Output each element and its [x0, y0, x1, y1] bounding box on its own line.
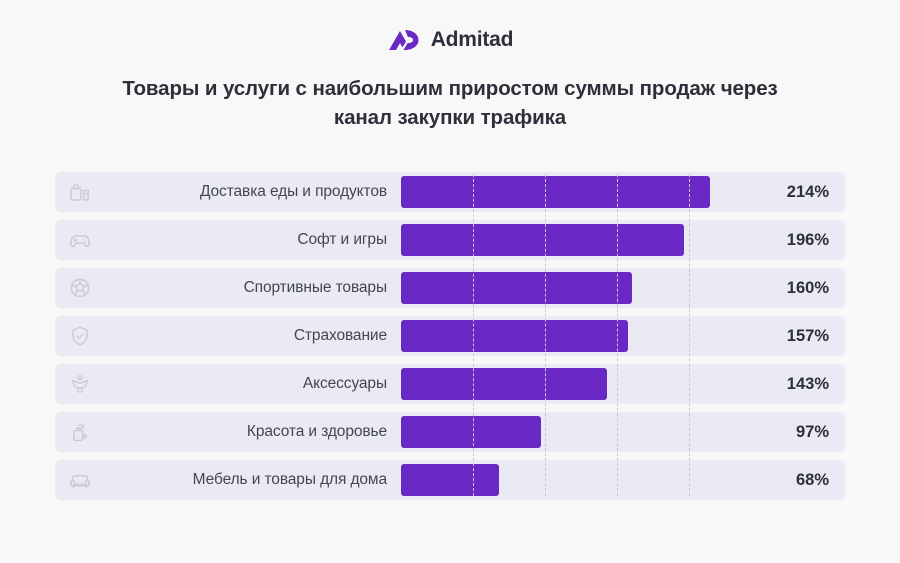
table-row: Мебель и товары для дома 68%: [55, 460, 845, 500]
row-value: 196%: [775, 220, 845, 260]
table-row: Софт и игры 196%: [55, 220, 845, 260]
row-track: [401, 412, 775, 452]
row-value: 214%: [775, 172, 845, 212]
row-label: Спортивные товары: [103, 279, 387, 297]
table-row: Красота и здоровье 97%: [55, 412, 845, 452]
page-title: Товары и услуги с наибольшим приростом с…: [110, 74, 790, 132]
row-label-band: Доставка еды и продуктов: [55, 172, 401, 212]
table-row: Страхование 157%: [55, 316, 845, 356]
row-value: 143%: [775, 364, 845, 404]
row-label-band: Софт и игры: [55, 220, 401, 260]
row-label: Страхование: [103, 327, 387, 345]
bar: [401, 368, 607, 400]
row-value: 68%: [775, 460, 845, 500]
row-value: 160%: [775, 268, 845, 308]
table-row: Доставка еды и продуктов 214%: [55, 172, 845, 212]
soccer-ball-icon: [67, 275, 93, 301]
row-label-band: Аксессуары: [55, 364, 401, 404]
bar: [401, 416, 541, 448]
chart-rows: Доставка еды и продуктов 214% Софт и игр…: [55, 172, 845, 508]
bar-chart: Доставка еды и продуктов 214% Софт и игр…: [55, 172, 845, 502]
row-track: [401, 172, 775, 212]
row-track: [401, 364, 775, 404]
row-label-band: Мебель и товары для дома: [55, 460, 401, 500]
row-track: [401, 220, 775, 260]
row-label: Мебель и товары для дома: [103, 471, 387, 489]
sofa-icon: [67, 467, 93, 493]
row-label: Софт и игры: [103, 231, 387, 249]
row-value: 157%: [775, 316, 845, 356]
row-label-band: Спортивные товары: [55, 268, 401, 308]
food-delivery-bag-icon: [67, 179, 93, 205]
bar: [401, 176, 710, 208]
bar: [401, 464, 499, 496]
bar: [401, 224, 684, 256]
row-track: [401, 460, 775, 500]
necklace-accessory-icon: [67, 371, 93, 397]
row-track: [401, 268, 775, 308]
row-label-band: Красота и здоровье: [55, 412, 401, 452]
row-label: Красота и здоровье: [103, 423, 387, 441]
bar: [401, 320, 628, 352]
row-track: [401, 316, 775, 356]
row-label: Аксессуары: [103, 375, 387, 393]
brand-header: Admitad: [0, 28, 900, 52]
shield-check-icon: [67, 323, 93, 349]
table-row: Аксессуары 143%: [55, 364, 845, 404]
row-label-band: Страхование: [55, 316, 401, 356]
admitad-ad-monogram-icon: [387, 28, 421, 52]
gamepad-icon: [67, 227, 93, 253]
soap-dispenser-icon: [67, 419, 93, 445]
row-value: 97%: [775, 412, 845, 452]
table-row: Спортивные товары 160%: [55, 268, 845, 308]
bar: [401, 272, 632, 304]
brand-name: Admitad: [431, 28, 514, 52]
row-label: Доставка еды и продуктов: [103, 183, 387, 201]
